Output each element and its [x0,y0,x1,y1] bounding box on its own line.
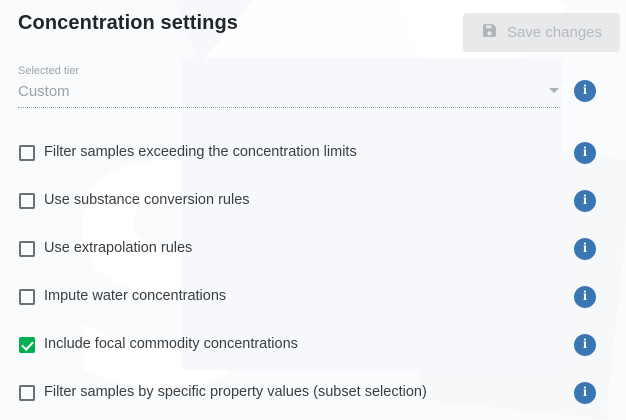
checkbox-unchecked[interactable] [19,193,35,209]
info-icon[interactable]: i [574,286,596,308]
option-label: Use substance conversion rules [44,190,250,211]
option-row[interactable]: Include focal commodity concentrationsi [0,334,626,358]
selected-tier-select[interactable]: Selected tier Custom [18,64,560,108]
option-row[interactable]: Filter samples exceeding the concentrati… [0,142,626,166]
option-row[interactable]: Filter samples by specific property valu… [0,382,626,406]
option-label: Use extrapolation rules [44,238,192,259]
checkbox-unchecked[interactable] [19,145,35,161]
save-changes-label: Save changes [507,24,602,41]
checkbox-unchecked[interactable] [19,385,35,401]
info-icon[interactable]: i [574,190,596,212]
save-floppy-icon [481,22,498,43]
info-icon[interactable]: i [574,382,596,404]
option-row[interactable]: Use extrapolation rulesi [0,238,626,262]
checkbox-unchecked[interactable] [19,241,35,257]
info-icon[interactable]: i [574,142,596,164]
option-row[interactable]: Use substance conversion rulesi [0,190,626,214]
option-label: Include focal commodity concentrations [44,334,298,355]
chevron-down-icon[interactable] [549,88,559,93]
info-icon[interactable]: i [574,334,596,356]
selected-tier-value: Custom [18,83,70,100]
option-row[interactable]: Impute water concentrationsi [0,286,626,310]
page-title: Concentration settings [18,12,238,35]
option-label: Filter samples by specific property valu… [44,382,427,403]
select-underline [18,107,560,108]
checkbox-unchecked[interactable] [19,289,35,305]
selected-tier-label: Selected tier [18,64,560,78]
info-icon-selected-tier[interactable]: i [574,80,596,102]
info-icon[interactable]: i [574,238,596,260]
option-label: Impute water concentrations [44,286,226,307]
checkbox-checked[interactable] [19,337,35,353]
option-label: Filter samples exceeding the concentrati… [44,142,357,163]
concentration-settings-page: S R Concentration settings Save changes … [0,0,626,420]
save-changes-button[interactable]: Save changes [463,13,620,52]
